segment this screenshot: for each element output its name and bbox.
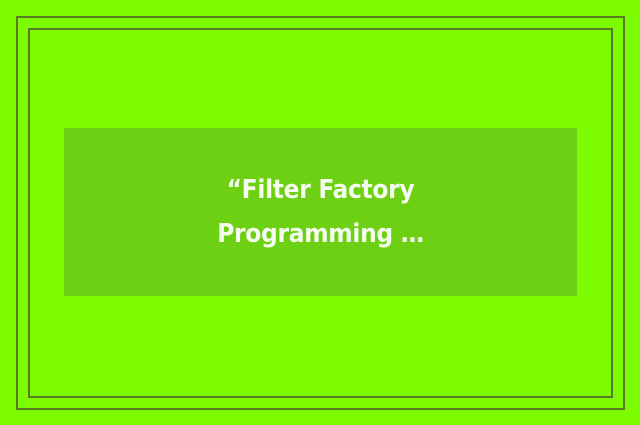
slide-canvas: “Filter Factory Programming …	[0, 0, 640, 425]
slide-title-line-2: Programming …	[82, 212, 559, 256]
slide-title-line-1: “Filter Factory	[82, 168, 559, 212]
content-panel: “Filter Factory Programming …	[64, 128, 577, 296]
slide-title: “Filter Factory Programming …	[64, 168, 577, 256]
